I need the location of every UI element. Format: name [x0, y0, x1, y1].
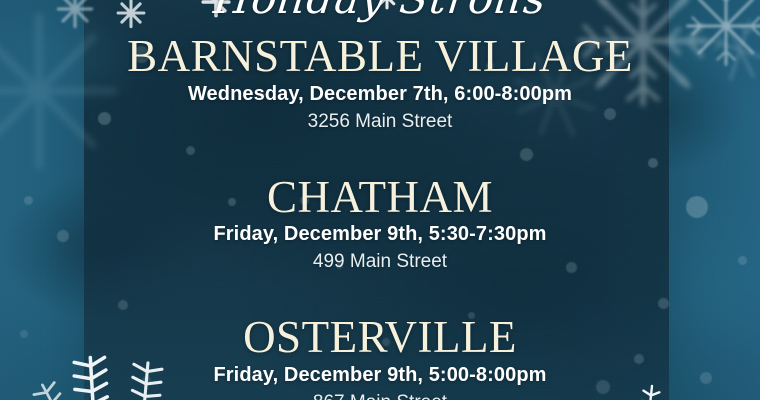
flyer-script-title: Holiday Strolls [212, 0, 549, 20]
event-block: CHATHAM Friday, December 9th, 5:30-7:30p… [0, 175, 760, 276]
flyer-content: Holiday Strolls BARNSTABLE VILLAGE Wedne… [0, 0, 760, 400]
event-address: 867 Main Street [0, 391, 760, 400]
holiday-strolls-flyer: Holiday Strolls BARNSTABLE VILLAGE Wedne… [0, 0, 760, 400]
event-block: OSTERVILLE Friday, December 9th, 5:00-8:… [0, 315, 760, 400]
event-block: BARNSTABLE VILLAGE Wednesday, December 7… [0, 34, 760, 135]
event-town: BARNSTABLE VILLAGE [0, 34, 760, 80]
event-address: 3256 Main Street [0, 110, 760, 135]
event-town: CHATHAM [0, 175, 760, 221]
event-town: OSTERVILLE [0, 315, 760, 361]
event-datetime: Friday, December 9th, 5:00-8:00pm [0, 363, 760, 388]
event-address: 499 Main Street [0, 250, 760, 275]
event-datetime: Friday, December 9th, 5:30-7:30pm [0, 222, 760, 247]
event-datetime: Wednesday, December 7th, 6:00-8:00pm [0, 82, 760, 107]
